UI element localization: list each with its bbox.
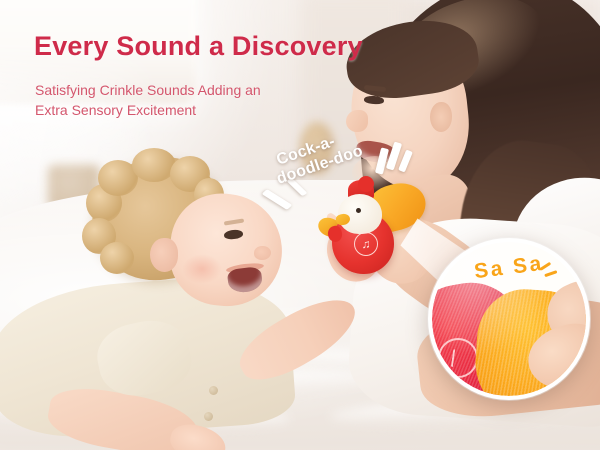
page-subtitle: Satisfying Crinkle Sounds Adding an Extr… xyxy=(35,80,261,121)
baby-cheek xyxy=(182,254,222,284)
subtitle-line-2: Extra Sensory Excitement xyxy=(35,100,261,120)
mother-ear xyxy=(430,102,452,132)
toy-eye xyxy=(356,208,361,213)
music-note-icon: ♫ xyxy=(354,232,378,256)
crinkle-motion-marks xyxy=(539,259,566,284)
baby-ear xyxy=(150,238,178,272)
baby-onesie-button xyxy=(209,386,218,395)
page-title: Every Sound a Discovery xyxy=(34,31,363,62)
baby-hair-curl xyxy=(100,242,134,274)
subtitle-line-1: Satisfying Crinkle Sounds Adding an xyxy=(35,80,261,100)
zoom-inset-content: Sa Sa xyxy=(432,242,586,396)
baby-onesie-button xyxy=(204,412,213,421)
toy-comb-top xyxy=(358,176,374,192)
fabric-zoom-inset: Sa Sa xyxy=(428,238,590,400)
banner-stage: ♫ Cock-a- doodle-doo Sa Sa Every Sound a… xyxy=(0,0,600,450)
